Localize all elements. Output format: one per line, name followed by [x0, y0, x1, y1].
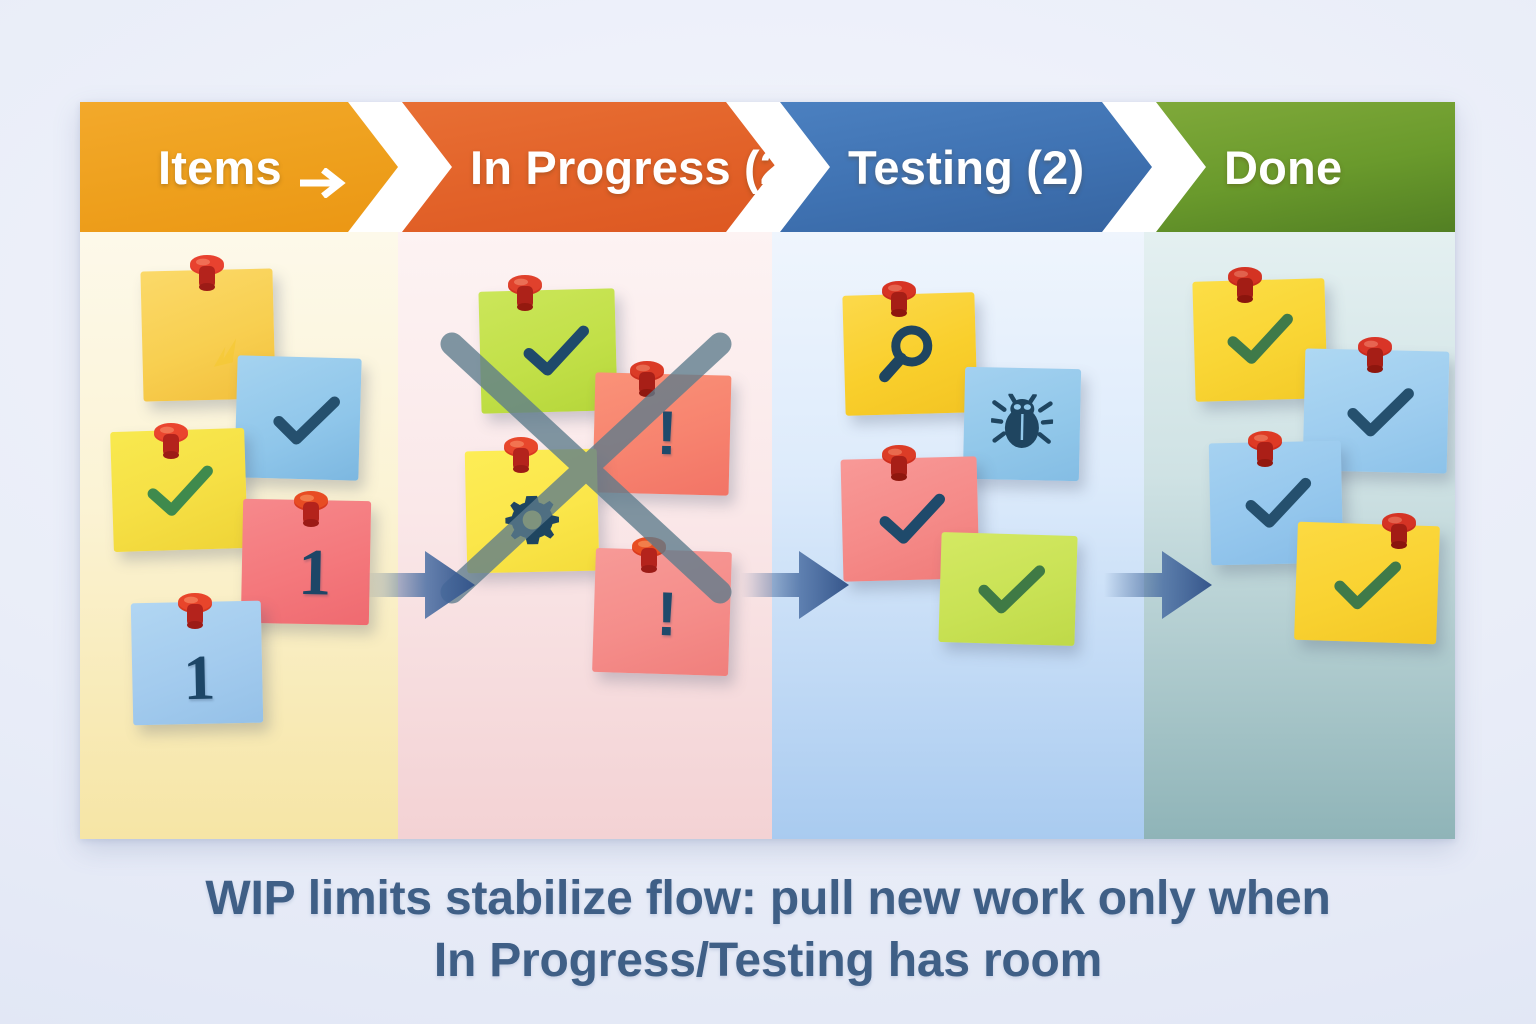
column-done[interactable] — [1144, 232, 1455, 839]
note-items-3[interactable] — [110, 428, 248, 552]
gear-icon — [502, 489, 563, 555]
note-testing-1[interactable] — [842, 292, 977, 416]
check-icon — [144, 461, 218, 524]
column-header-items-label: Items — [158, 140, 352, 195]
check-icon — [975, 560, 1049, 623]
note-in-progress-4[interactable]: ! — [592, 548, 732, 676]
check-icon — [1331, 555, 1405, 618]
note-testing-2[interactable] — [963, 367, 1081, 481]
column-header-in-progress[interactable]: In Progress (2) — [402, 102, 844, 232]
note-items-4-label: 1 — [298, 540, 332, 607]
column-header-testing[interactable]: Testing (2) — [780, 102, 1220, 232]
note-testing-4[interactable] — [938, 532, 1077, 646]
note-items-5[interactable]: 1 — [131, 601, 264, 726]
caption: WIP limits stabilize flow: pull new work… — [0, 868, 1536, 993]
caption-line-1: WIP limits stabilize flow: pull new work… — [0, 868, 1536, 930]
magnifier-icon — [875, 321, 943, 394]
caption-line-2: In Progress/Testing has room — [0, 930, 1536, 992]
note-items-5-label: 1 — [183, 646, 216, 711]
column-items[interactable]: 1 1 — [80, 232, 398, 839]
column-header-done[interactable]: Done — [1156, 102, 1523, 232]
board-header-strip: Items In Progress (2) Testing (2) Done — [80, 102, 1455, 232]
column-in-progress[interactable]: ! — [398, 232, 772, 839]
column-header-items[interactable]: Items — [80, 102, 476, 232]
check-icon — [876, 490, 949, 553]
column-header-testing-label: Testing (2) — [848, 140, 1084, 195]
check-icon — [520, 321, 594, 384]
check-icon — [1224, 309, 1298, 372]
column-testing[interactable] — [772, 232, 1144, 839]
infographic-canvas: Items In Progress (2) Testing (2) Done — [0, 0, 1536, 1024]
column-header-items-text: Items — [158, 140, 282, 195]
kanban-board-panel: Items In Progress (2) Testing (2) Done — [80, 102, 1455, 839]
note-in-progress-3[interactable] — [465, 449, 600, 574]
column-header-in-progress-label: In Progress (2) — [470, 140, 802, 195]
exclamation-icon: ! — [656, 584, 679, 647]
board-columns: 1 1 — [80, 232, 1455, 839]
check-icon — [1344, 383, 1417, 446]
note-done-4[interactable] — [1294, 522, 1440, 645]
arrow-right-icon — [300, 154, 352, 184]
column-header-done-label: Done — [1224, 140, 1342, 195]
check-icon — [270, 391, 344, 454]
exclamation-icon: ! — [656, 403, 678, 465]
bug-icon — [990, 393, 1053, 457]
note-items-2[interactable] — [234, 355, 361, 480]
note-in-progress-2[interactable]: ! — [593, 372, 732, 495]
